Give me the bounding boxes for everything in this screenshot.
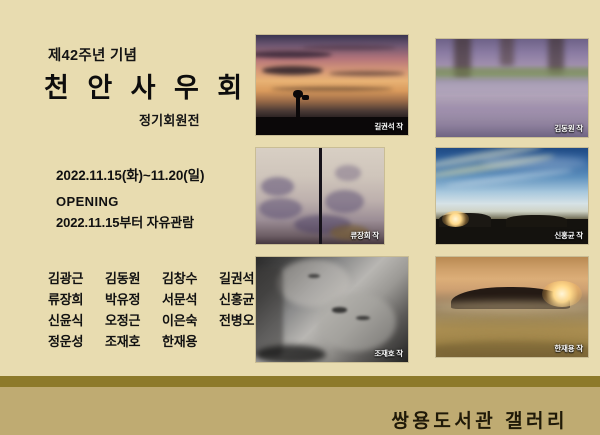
participant-name: 박유정 [105,289,153,310]
poster-text-column: 제42주년 기념 천 안 사 우 회 정기회원전 2022.11.15(화)~1… [0,0,248,375]
photo-thumbnail: 류장희 작 [256,148,384,244]
photo-thumbnail: 조재호 작 [256,257,408,362]
opening-detail: 2022.11.15부터 자유관람 [56,212,194,231]
photo-grid: 길권석 작 김동원 작 [256,35,588,362]
participant-name: 한재용 [162,331,210,352]
anniversary-label: 제42주년 기념 [48,44,137,65]
banner-body: 쌍용도서관 갤러리 [0,387,600,435]
photo-thumbnail: 김동원 작 [436,39,588,137]
venue-name: 쌍용도서관 갤러리 [391,406,568,433]
participant-name-list: 김광근 김동원 김창수 길권석 류장희 박유정 서문석 신홍균 신윤식 오정근 … [48,268,267,352]
exhibition-poster: 제42주년 기념 천 안 사 우 회 정기회원전 2022.11.15(화)~1… [0,0,600,435]
photo-thumbnail: 길권석 작 [256,35,408,135]
photo-caption: 길권석 작 [374,121,403,132]
participant-name: 조재호 [105,331,153,352]
participant-name: 서문석 [162,289,210,310]
participant-name: 류장희 [48,289,96,310]
photo-caption: 류장희 작 [350,230,379,241]
participant-name: 김창수 [162,268,210,289]
exhibition-subtitle: 정기회원전 [139,110,200,129]
opening-label: OPENING [56,194,119,209]
participant-name: 정운성 [48,331,96,352]
participant-name: 이은숙 [162,310,210,331]
misty-grove-image [436,257,588,357]
stone-sculptures-image [256,257,408,362]
photo-caption: 신홍균 작 [554,230,583,241]
photo-thumbnail: 신홍균 작 [436,148,588,244]
photo-caption: 한재용 작 [554,343,583,354]
participant-name: 신윤식 [48,310,96,331]
banner-stripe [0,376,600,387]
participant-name: 오정근 [105,310,153,331]
page-title: 천 안 사 우 회 [44,66,248,105]
venue-banner: 쌍용도서관 갤러리 [0,376,600,435]
sunset-silhouette-image [256,35,408,135]
photo-thumbnail: 한재용 작 [436,257,588,357]
photo-caption: 조재호 작 [374,348,403,359]
exhibition-date-range: 2022.11.15(화)~11.20(일) [56,164,204,184]
participant-name: 김광근 [48,268,96,289]
participant-name: 김동원 [105,268,153,289]
photo-caption: 김동원 작 [554,123,583,134]
